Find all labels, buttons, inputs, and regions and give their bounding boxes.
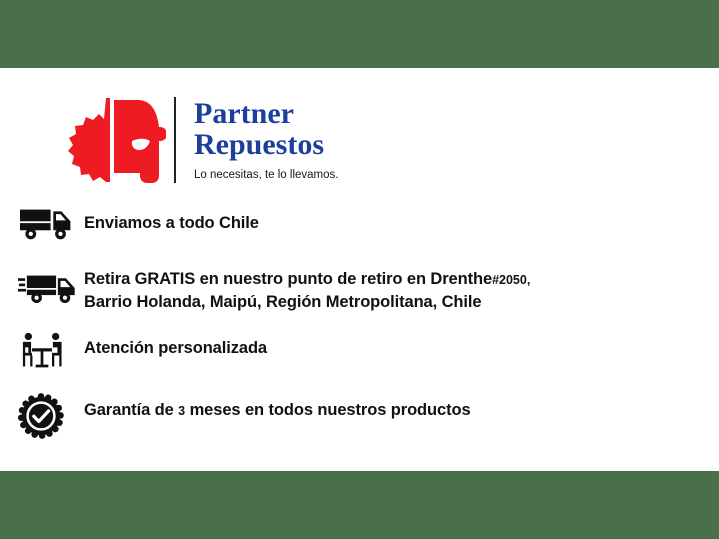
feature-item-service: Atención personalizada (18, 331, 678, 375)
warranty-months-number: 3 (178, 404, 185, 418)
fast-delivery-truck-icon (18, 268, 84, 306)
top-green-band (0, 0, 719, 68)
brand-name-line-1: Partner (194, 98, 338, 129)
feature-list: Enviamos a todo Chile (18, 206, 678, 457)
feature-item-shipping: Enviamos a todo Chile (18, 206, 678, 250)
logo-divider (174, 97, 176, 183)
feature-label-service: Atención personalizada (84, 331, 267, 359)
pickup-address-number: #2050, (492, 273, 530, 287)
bottom-green-band (0, 471, 719, 539)
feature-label-warranty: Garantía de 3 meses en todos nuestros pr… (84, 393, 471, 422)
feature-item-pickup: Retira GRATIS en nuestro punto de retiro… (18, 268, 678, 313)
brand-name-line-2: Repuestos (194, 129, 338, 160)
delivery-truck-icon (18, 206, 84, 242)
brand-text-block: Partner Repuestos Lo necesitas, te lo ll… (194, 98, 338, 182)
brand-tagline: Lo necesitas, te lo llevamos. (194, 169, 338, 182)
promo-banner: Partner Repuestos Lo necesitas, te lo ll… (0, 0, 719, 539)
warranty-text-pre: Garantía de (84, 401, 174, 419)
feature-item-warranty: Garantía de 3 meses en todos nuestros pr… (18, 393, 678, 439)
feature-label-shipping: Enviamos a todo Chile (84, 206, 259, 234)
feature-label-pickup: Retira GRATIS en nuestro punto de retiro… (84, 268, 530, 313)
pickup-line-1: Retira GRATIS en nuestro punto de retiro… (84, 270, 492, 288)
gear-car-split-icon (58, 94, 166, 186)
people-at-table-icon (18, 331, 84, 371)
check-badge-icon (18, 393, 84, 439)
brand-logo: Partner Repuestos Lo necesitas, te lo ll… (58, 92, 338, 188)
pickup-line-2: Barrio Holanda, Maipú, Región Metropolit… (84, 293, 481, 311)
warranty-text-post: meses en todos nuestros productos (190, 401, 471, 419)
